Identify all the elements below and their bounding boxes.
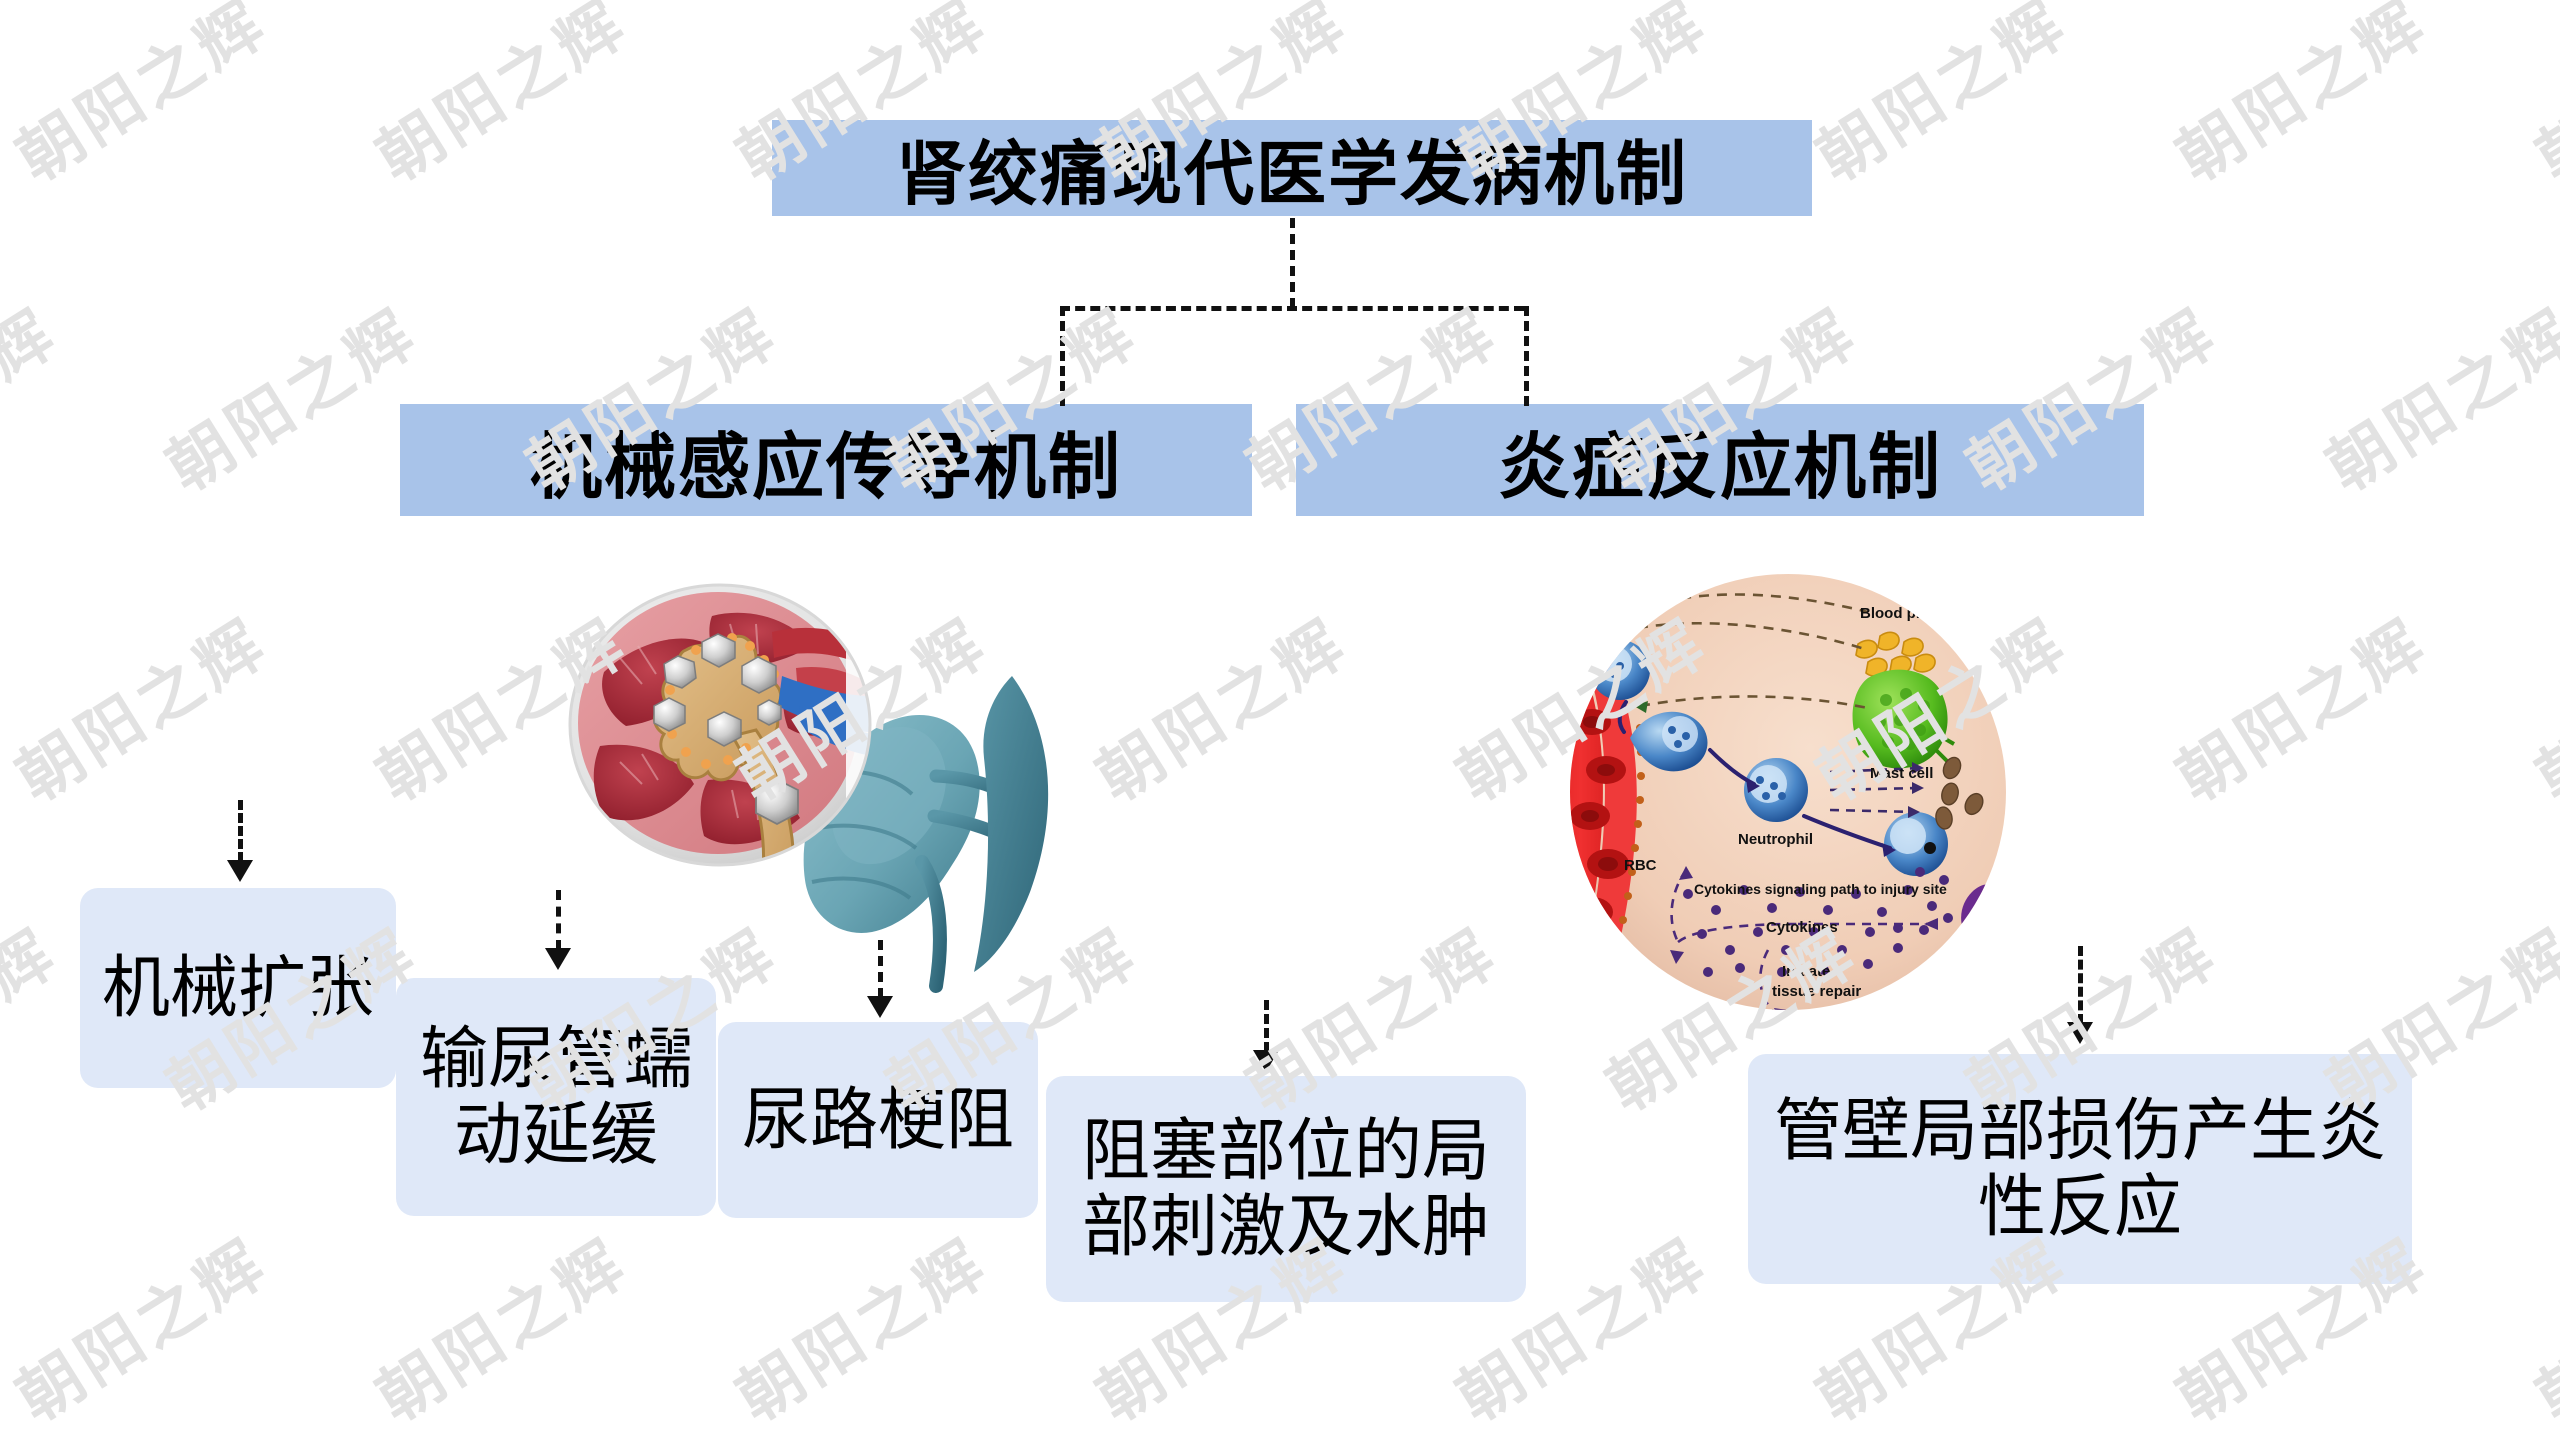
watermark-text: 朝阳之辉 (0, 593, 283, 819)
label-rbc: RBC (1624, 857, 1657, 874)
label-cytokine-signaling-path: Cytokines signaling path to injury site (1694, 881, 1947, 897)
diagram-title-box: 肾绞痛现代医学发病机制 (772, 120, 1812, 216)
watermark-text: 朝阳之辉 (0, 903, 73, 1129)
connector-title-stem (1290, 218, 1295, 308)
kidney-stone-illustration (560, 580, 1080, 1010)
inflammatory-response-illustration: Blood platelets Mast cell Neutrophil RBC… (1568, 572, 2008, 1012)
outcome-label-5: 管壁局部损伤产生炎性反应 (1758, 1093, 2402, 1245)
arrow-head-leaf-4 (1253, 1050, 1279, 1072)
arrow-stem-leaf-5 (2078, 946, 2083, 1024)
label-neutrophil: Neutrophil (1738, 831, 1813, 848)
outcome-label-2: 输尿管蠕动延缓 (406, 1021, 706, 1173)
watermark-text: 朝阳之辉 (2517, 593, 2560, 819)
watermark-text: 朝阳之辉 (0, 0, 283, 199)
watermark-text: 朝阳之辉 (2157, 0, 2443, 199)
arrow-head-leaf-3 (867, 996, 893, 1018)
branch-label-inflammatory: 炎症反应机制 (1498, 408, 1942, 513)
arrow-head-leaf-5 (2067, 1022, 2093, 1044)
arrow-stem-leaf-1 (238, 800, 243, 862)
watermark-text: 朝阳之辉 (2517, 1213, 2560, 1439)
watermark-text: 朝阳之辉 (1077, 593, 1363, 819)
watermark-text: 朝阳之辉 (357, 0, 643, 199)
watermark-text: 朝阳之辉 (0, 1213, 283, 1439)
outcome-box-urinary-obstruction: 尿路梗阻 (718, 1022, 1038, 1218)
connector-branch-right-drop (1524, 306, 1529, 406)
diagram-title-text: 肾绞痛现代医学发病机制 (896, 118, 1688, 219)
label-blood-platelets: Blood platelets (1860, 605, 1968, 622)
watermark-text: 朝阳之辉 (147, 283, 433, 509)
outcome-box-wall-injury-inflammation: 管壁局部损伤产生炎性反应 (1748, 1054, 2412, 1284)
watermark-text: 朝阳之辉 (2157, 593, 2443, 819)
outcome-box-mechanical-dilation: 机械扩张 (80, 888, 396, 1088)
diagram-canvas: 肾绞痛现代医学发病机制 机械感应传导机制 炎症反应机制 (0, 0, 2560, 1440)
outcome-label-1: 机械扩张 (102, 950, 374, 1026)
outcome-label-3: 尿路梗阻 (742, 1082, 1014, 1158)
branch-label-mechanical: 机械感应传导机制 (530, 408, 1122, 513)
outcome-box-ureteral-peristalsis-delay: 输尿管蠕动延缓 (396, 978, 716, 1216)
watermark-text: 朝阳之辉 (2517, 0, 2560, 199)
connector-bracket-bar (1060, 306, 1524, 311)
arrow-stem-leaf-3 (878, 940, 883, 998)
watermark-text: 朝阳之辉 (357, 1213, 643, 1439)
connector-branch-left-drop (1060, 306, 1065, 406)
watermark-text: 朝阳之辉 (2307, 283, 2560, 509)
label-initiate-repair-line1: Initiate (1782, 963, 1830, 980)
outcome-label-4: 阻塞部位的局部刺激及水肿 (1056, 1113, 1516, 1265)
arrow-head-leaf-1 (227, 860, 253, 882)
watermark-text: 朝阳之辉 (1797, 0, 2083, 199)
branch-box-inflammatory: 炎症反应机制 (1296, 404, 2144, 516)
label-initiate-repair-line2: tissue repair (1772, 983, 1861, 1000)
arrow-stem-leaf-2 (556, 890, 561, 950)
arrow-stem-leaf-4 (1264, 1000, 1269, 1052)
label-mast-cell: Mast cell (1870, 765, 1933, 782)
outcome-box-local-irritation-edema: 阻塞部位的局部刺激及水肿 (1046, 1076, 1526, 1302)
watermark-text: 朝阳之辉 (0, 283, 73, 509)
arrow-head-leaf-2 (545, 948, 571, 970)
watermark-text: 朝阳之辉 (717, 1213, 1003, 1439)
label-cytokines: Cytokines (1766, 919, 1838, 936)
branch-box-mechanical: 机械感应传导机制 (400, 404, 1252, 516)
